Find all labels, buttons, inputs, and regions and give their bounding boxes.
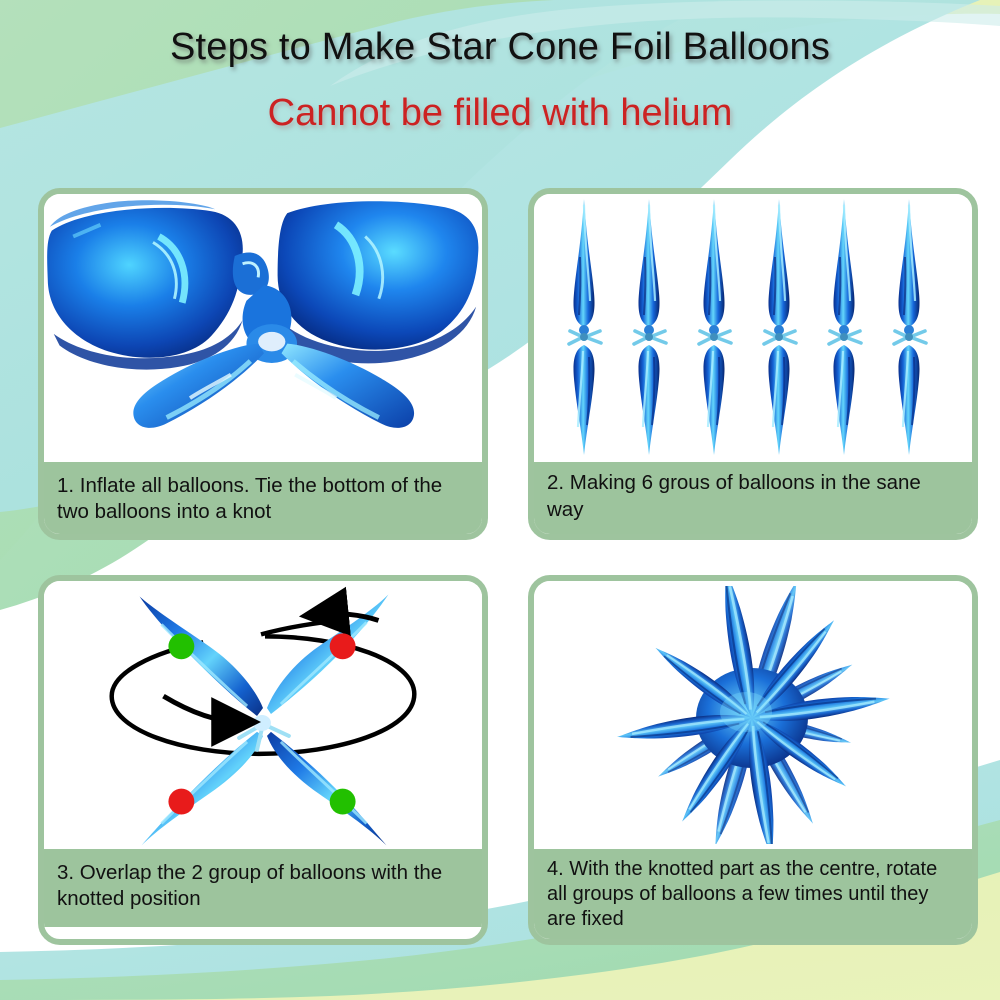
page-title: Steps to Make Star Cone Foil Balloons xyxy=(170,26,830,68)
step-3-image xyxy=(44,581,482,849)
infographic-page: Steps to Make Star Cone Foil Balloons Ca… xyxy=(0,0,1000,1000)
step-card-3: 3. Overlap the 2 group of balloons with … xyxy=(38,575,488,945)
steps-grid: 1. Inflate all balloons. Tie the bottom … xyxy=(38,188,978,945)
step-1-image xyxy=(44,194,482,462)
step-1-caption: 1. Inflate all balloons. Tie the bottom … xyxy=(44,462,482,534)
marker-dot-green-upper-left xyxy=(168,633,194,659)
page-subtitle-container: Cannot be filled with helium xyxy=(0,92,1000,135)
step-2-caption: 2. Making 6 grous of balloons in the san… xyxy=(534,462,972,534)
marker-dot-green-lower-right xyxy=(330,789,356,815)
page-subtitle-warning: Cannot be filled with helium xyxy=(268,92,733,134)
marker-dot-red-upper-right xyxy=(330,633,356,659)
step-card-2: 2. Making 6 grous of balloons in the san… xyxy=(528,188,978,540)
page-title-container: Steps to Make Star Cone Foil Balloons xyxy=(0,26,1000,69)
step-4-caption: 4. With the knotted part as the centre, … xyxy=(534,849,972,939)
step-4-image xyxy=(534,581,972,849)
step-card-1: 1. Inflate all balloons. Tie the bottom … xyxy=(38,188,488,540)
step-3-caption: 3. Overlap the 2 group of balloons with … xyxy=(44,849,482,927)
step-2-image xyxy=(534,194,972,462)
steps-row-2: 3. Overlap the 2 group of balloons with … xyxy=(38,575,978,945)
marker-dot-red-lower-left xyxy=(168,789,194,815)
steps-row-1: 1. Inflate all balloons. Tie the bottom … xyxy=(38,188,978,540)
step-card-4: 4. With the knotted part as the centre, … xyxy=(528,575,978,945)
